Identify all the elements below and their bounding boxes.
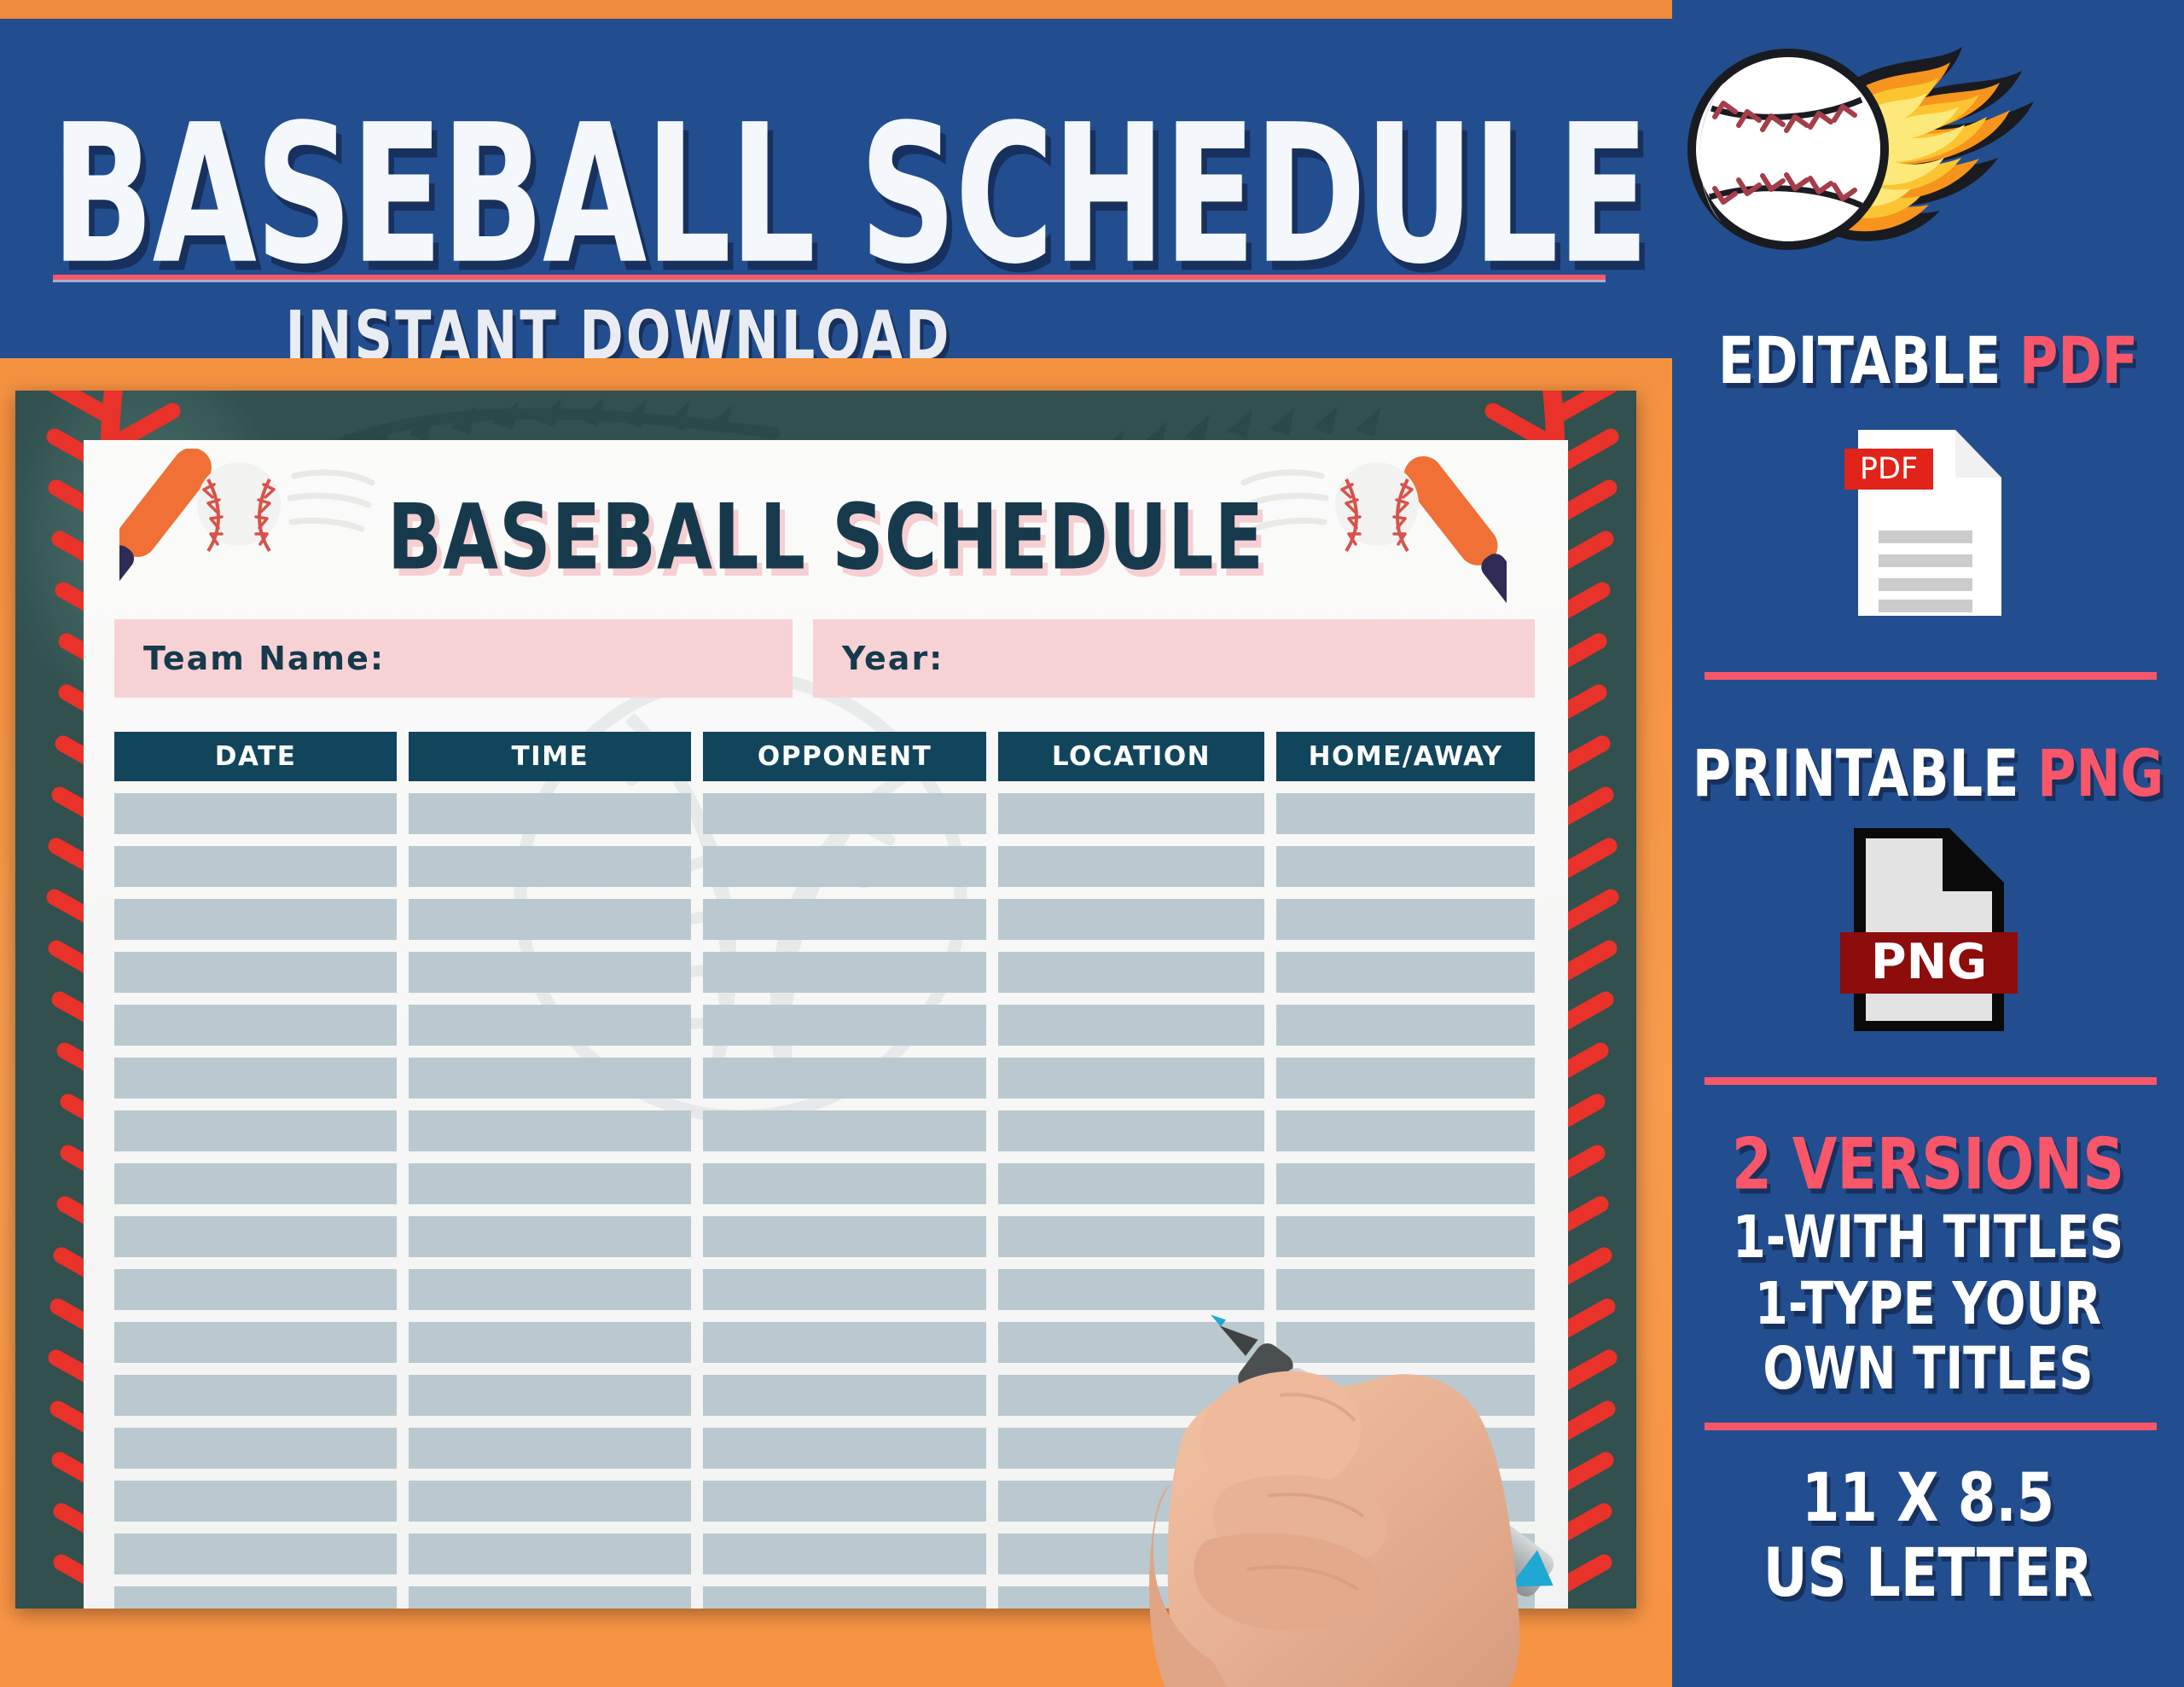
cell-home-away[interactable] bbox=[1276, 1058, 1535, 1099]
cell-date[interactable] bbox=[114, 1005, 397, 1046]
cell-time[interactable] bbox=[409, 1216, 691, 1257]
cell-time[interactable] bbox=[409, 793, 691, 834]
flaming-baseball-icon bbox=[1681, 30, 2039, 277]
cell-location[interactable] bbox=[998, 899, 1265, 940]
cell-time[interactable] bbox=[409, 1269, 691, 1310]
cell-opponent[interactable] bbox=[703, 1481, 985, 1522]
cell-home-away[interactable] bbox=[1276, 1110, 1535, 1151]
cell-opponent[interactable] bbox=[703, 846, 985, 887]
cell-home-away[interactable] bbox=[1276, 793, 1535, 834]
cell-date[interactable] bbox=[114, 1110, 397, 1151]
cell-home-away[interactable] bbox=[1276, 1163, 1535, 1204]
cell-date[interactable] bbox=[114, 1375, 397, 1416]
cell-location[interactable] bbox=[998, 1110, 1265, 1151]
main-column: BASEBALL SCHEDULE INSTANT DOWNLOAD bbox=[0, 0, 1672, 1687]
cell-opponent[interactable] bbox=[703, 1322, 985, 1363]
sidebar-divider-2 bbox=[1705, 1077, 2157, 1085]
cell-time[interactable] bbox=[409, 952, 691, 993]
versions-line-2: 1-TYPE YOUR bbox=[1672, 1271, 2184, 1338]
cell-date[interactable] bbox=[114, 1216, 397, 1257]
cell-date[interactable] bbox=[114, 952, 397, 993]
svg-text:PNG: PNG bbox=[1871, 934, 1987, 990]
cell-opponent[interactable] bbox=[703, 1163, 985, 1204]
column-header-date: DATE bbox=[114, 732, 397, 781]
cell-time[interactable] bbox=[409, 1428, 691, 1469]
table-row bbox=[114, 1005, 1535, 1046]
team-name-label: Team Name: bbox=[143, 640, 385, 677]
table-header-row: DATE TIME OPPONENT LOCATION HOME/AWAY bbox=[114, 732, 1535, 781]
column-header-home-away: HOME/AWAY bbox=[1276, 732, 1535, 781]
sheet-title: BASEBALL SCHEDULE bbox=[84, 484, 1568, 589]
cell-date[interactable] bbox=[114, 1586, 397, 1609]
cell-opponent[interactable] bbox=[703, 1375, 985, 1416]
year-label: Year: bbox=[842, 640, 944, 677]
cell-opponent[interactable] bbox=[703, 899, 985, 940]
pdf-file-icon: PDF bbox=[1843, 425, 2013, 621]
cell-date[interactable] bbox=[114, 1481, 397, 1522]
cell-time[interactable] bbox=[409, 1322, 691, 1363]
cell-opponent[interactable] bbox=[703, 1428, 985, 1469]
size-line-1: 11 X 8.5 bbox=[1672, 1460, 2184, 1537]
size-line-2: US LETTER bbox=[1672, 1535, 2184, 1612]
cell-opponent[interactable] bbox=[703, 1533, 985, 1574]
table-row bbox=[114, 899, 1535, 940]
table-row bbox=[114, 952, 1535, 993]
cell-time[interactable] bbox=[409, 1481, 691, 1522]
column-header-opponent: OPPONENT bbox=[703, 732, 985, 781]
cell-date[interactable] bbox=[114, 846, 397, 887]
column-header-location: LOCATION bbox=[998, 732, 1265, 781]
page-title: BASEBALL SCHEDULE bbox=[51, 100, 1503, 291]
poster-root: BASEBALL SCHEDULE INSTANT DOWNLOAD bbox=[0, 0, 2184, 1687]
cell-home-away[interactable] bbox=[1276, 899, 1535, 940]
cell-date[interactable] bbox=[114, 793, 397, 834]
cell-location[interactable] bbox=[998, 1163, 1265, 1204]
sidebar-heading-printable-accent: PNG bbox=[2037, 735, 2164, 811]
cell-time[interactable] bbox=[409, 1110, 691, 1151]
cell-location[interactable] bbox=[998, 1005, 1265, 1046]
cell-date[interactable] bbox=[114, 1163, 397, 1204]
versions-title: 2 VERSIONS bbox=[1672, 1124, 2184, 1206]
svg-text:PDF: PDF bbox=[1860, 452, 1918, 486]
cell-location[interactable] bbox=[998, 1058, 1265, 1099]
versions-line-3: OWN TITLES bbox=[1672, 1336, 2184, 1403]
cell-opponent[interactable] bbox=[703, 1058, 985, 1099]
title-underline bbox=[53, 275, 1606, 282]
cell-time[interactable] bbox=[409, 1058, 691, 1099]
table-row bbox=[114, 1110, 1535, 1151]
table-row bbox=[114, 1163, 1535, 1204]
sidebar-divider-3 bbox=[1705, 1423, 2157, 1430]
year-field[interactable]: Year: bbox=[813, 619, 1535, 698]
table-row bbox=[114, 793, 1535, 834]
sidebar-heading-editable-accent: PDF bbox=[2019, 322, 2138, 398]
png-file-icon: PNG bbox=[1840, 823, 2019, 1036]
cell-location[interactable] bbox=[998, 952, 1265, 993]
cell-opponent[interactable] bbox=[703, 1269, 985, 1310]
cell-opponent[interactable] bbox=[703, 1586, 985, 1609]
cell-date[interactable] bbox=[114, 1533, 397, 1574]
sidebar-heading-editable-plain: EDITABLE bbox=[1718, 322, 2001, 398]
cell-time[interactable] bbox=[409, 846, 691, 887]
sheet-fields: Team Name: Year: bbox=[114, 619, 1535, 698]
cell-time[interactable] bbox=[409, 1375, 691, 1416]
sidebar: EDITABLE PDF PDF PRINTABLE PNG bbox=[1672, 0, 2184, 1687]
column-header-time: TIME bbox=[409, 732, 691, 781]
sidebar-divider-1 bbox=[1705, 672, 2157, 680]
cell-time[interactable] bbox=[409, 1005, 691, 1046]
cell-opponent[interactable] bbox=[703, 952, 985, 993]
hand-with-pen-photo bbox=[1024, 1228, 1672, 1687]
cell-opponent[interactable] bbox=[703, 793, 985, 834]
sidebar-heading-printable-plain: PRINTABLE bbox=[1693, 735, 2019, 811]
cell-opponent[interactable] bbox=[703, 1216, 985, 1257]
cell-location[interactable] bbox=[998, 846, 1265, 887]
sidebar-heading-printable: PRINTABLE PNG bbox=[1672, 735, 2184, 811]
cell-home-away[interactable] bbox=[1276, 1005, 1535, 1046]
team-name-field[interactable]: Team Name: bbox=[114, 619, 793, 698]
cell-location[interactable] bbox=[998, 793, 1265, 834]
header-band: BASEBALL SCHEDULE INSTANT DOWNLOAD bbox=[0, 19, 1672, 360]
cell-time[interactable] bbox=[409, 1586, 691, 1609]
table-row bbox=[114, 1058, 1535, 1099]
versions-line-1: 1-WITH TITLES bbox=[1672, 1204, 2184, 1272]
cell-time[interactable] bbox=[409, 1163, 691, 1204]
cell-date[interactable] bbox=[114, 1269, 397, 1310]
sidebar-heading-editable: EDITABLE PDF bbox=[1672, 322, 2184, 398]
cell-date[interactable] bbox=[114, 1058, 397, 1099]
cell-opponent[interactable] bbox=[703, 1005, 985, 1046]
cell-time[interactable] bbox=[409, 899, 691, 940]
cell-date[interactable] bbox=[114, 899, 397, 940]
cell-opponent[interactable] bbox=[703, 1110, 985, 1151]
cell-date[interactable] bbox=[114, 1428, 397, 1469]
cell-home-away[interactable] bbox=[1276, 846, 1535, 887]
cell-home-away[interactable] bbox=[1276, 952, 1535, 993]
cell-date[interactable] bbox=[114, 1322, 397, 1363]
cell-time[interactable] bbox=[409, 1533, 691, 1574]
table-row bbox=[114, 846, 1535, 887]
